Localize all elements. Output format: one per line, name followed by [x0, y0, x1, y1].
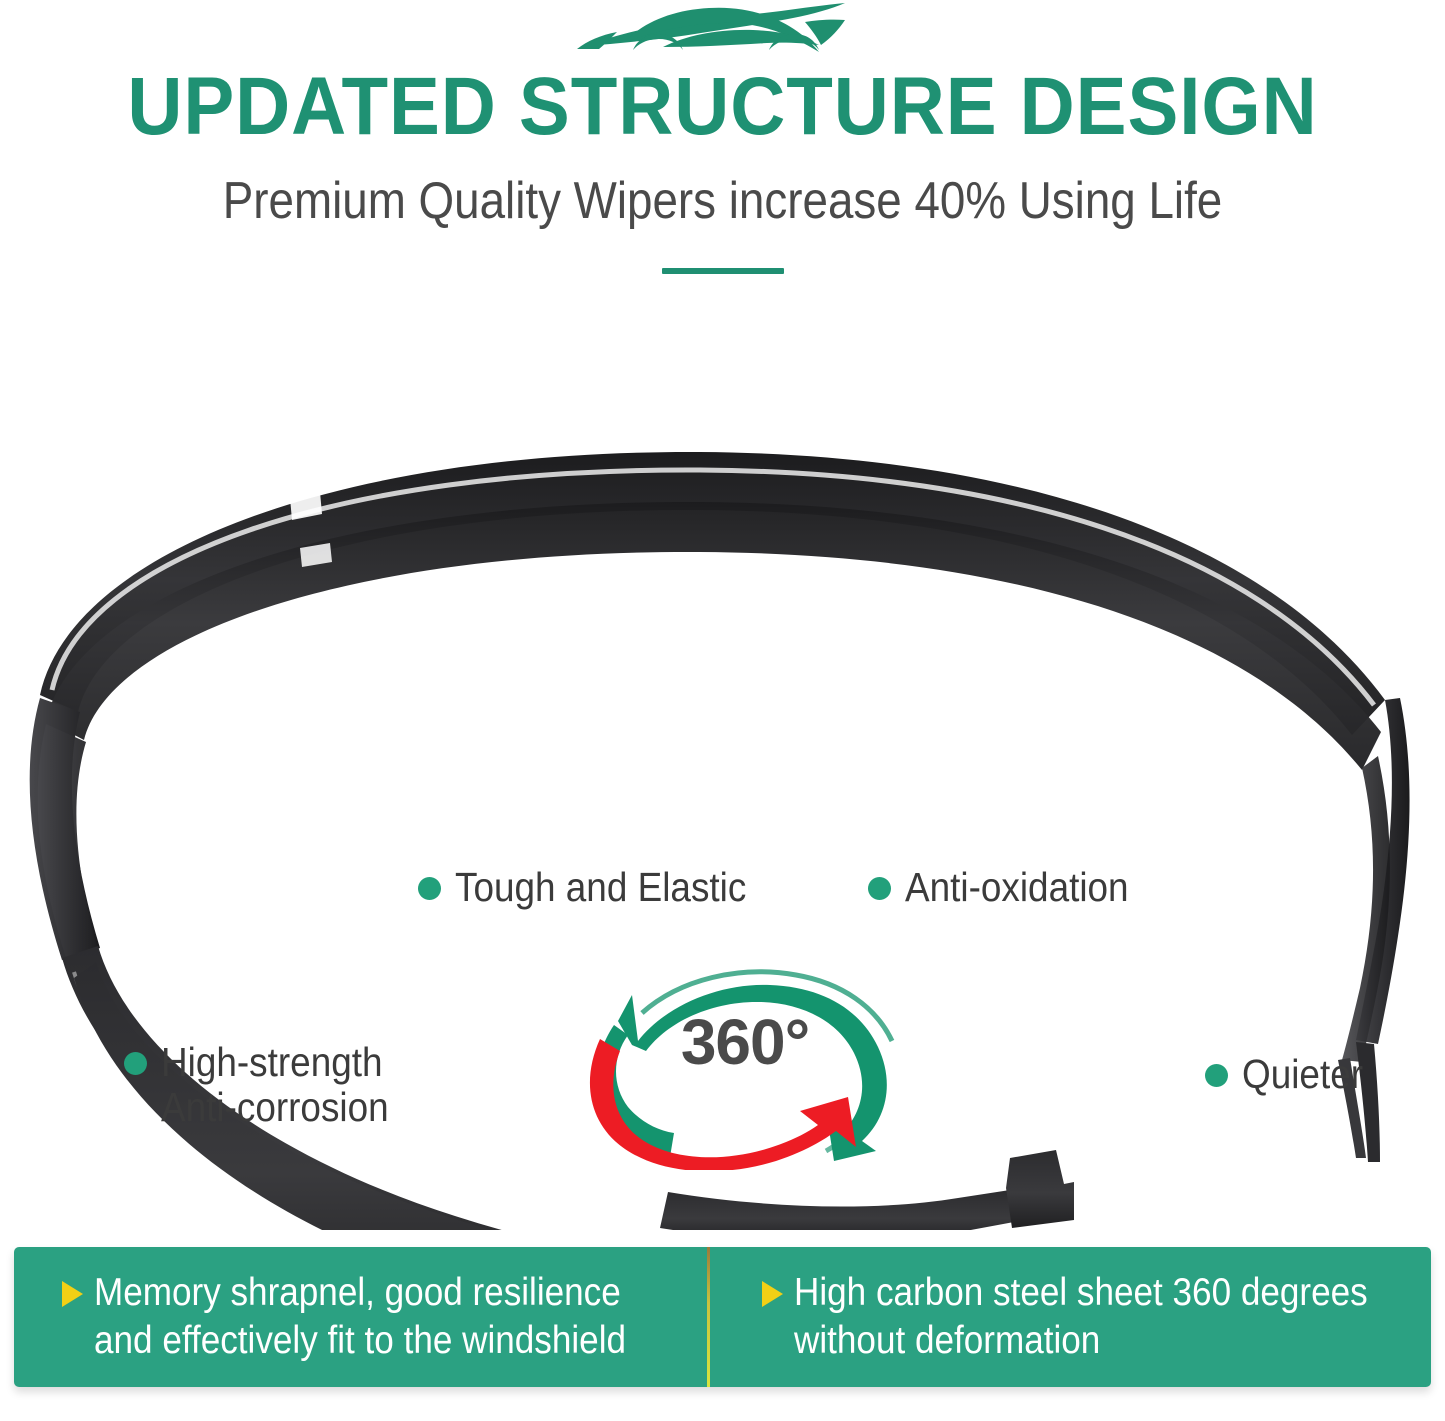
banner-line1: High carbon steel sheet 360 degrees	[794, 1269, 1368, 1317]
bullet-dot-icon	[418, 877, 441, 900]
feature-callout-high-strength-anti-corrosion: High-strength Anti-corrosion	[124, 1040, 414, 1130]
banner-item-text: High carbon steel sheet 360 degrees with…	[794, 1269, 1368, 1365]
banner-line1: Memory shrapnel, good resilience	[94, 1269, 626, 1317]
banner-item-left: Memory shrapnel, good resilience and eff…	[14, 1247, 707, 1387]
feature-callout-quieter: Quieter	[1205, 1052, 1376, 1097]
bullet-dot-icon	[868, 877, 891, 900]
title-divider-rule	[662, 268, 784, 274]
feature-label: Tough and Elastic	[455, 865, 746, 910]
banner-line2: and effectively fit to the windshield	[94, 1317, 626, 1365]
feature-label: Quieter	[1242, 1052, 1363, 1097]
feature-callout-tough-and-elastic: Tough and Elastic	[418, 865, 779, 910]
triangle-bullet-icon	[762, 1281, 783, 1307]
triangle-bullet-icon	[62, 1281, 83, 1307]
feature-label-line1: High-strength	[161, 1040, 389, 1085]
badge-value: 360°	[570, 1007, 920, 1077]
feature-callout-anti-oxidation: Anti-oxidation	[868, 865, 1153, 910]
360-degree-badge: 360°	[570, 955, 920, 1170]
feature-label: Anti-oxidation	[905, 865, 1129, 910]
car-silhouette-icon	[573, 2, 873, 64]
product-stage: Tough and Elastic Anti-oxidation High-st…	[0, 300, 1445, 1230]
bullet-dot-icon	[124, 1052, 147, 1075]
header: UPDATED STRUCTURE DESIGN Premium Quality…	[0, 0, 1445, 300]
banner-item-right: High carbon steel sheet 360 degrees with…	[710, 1247, 1431, 1387]
banner-line2: without deformation	[794, 1317, 1368, 1365]
bullet-dot-icon	[1205, 1064, 1228, 1087]
page-subtitle: Premium Quality Wipers increase 40% Usin…	[87, 170, 1359, 232]
page-title: UPDATED STRUCTURE DESIGN	[51, 62, 1395, 152]
bottom-feature-banner: Memory shrapnel, good resilience and eff…	[14, 1247, 1431, 1387]
feature-label: High-strength Anti-corrosion	[161, 1040, 389, 1130]
feature-label-line2: Anti-corrosion	[161, 1085, 389, 1130]
banner-item-text: Memory shrapnel, good resilience and eff…	[94, 1269, 626, 1365]
